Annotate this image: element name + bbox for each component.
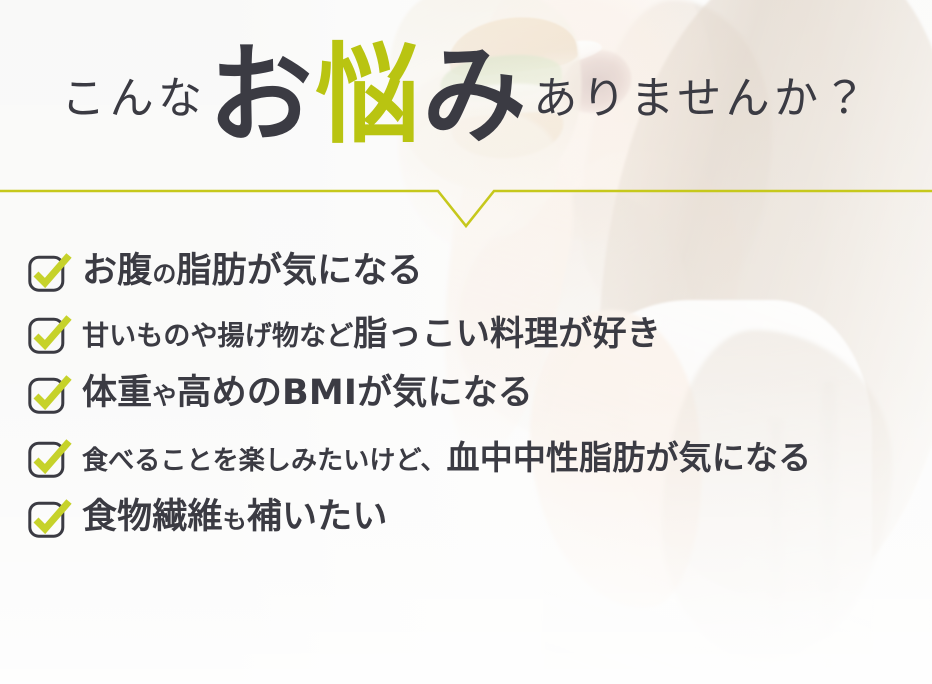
item-text-part: 脂肪が気になる xyxy=(176,251,422,291)
headline: こんな お 悩 み ありませんか？ xyxy=(0,18,932,168)
item-text-part: 食物繊維 xyxy=(82,497,223,537)
arrow-divider xyxy=(0,176,932,236)
checklist-item-belly-fat[interactable]: お腹の脂肪が気になる xyxy=(0,252,932,292)
checklist-item-weight-bmi[interactable]: 体重や高めのBMIが気になる xyxy=(0,374,932,414)
headline-kanji-nayami: 悩 xyxy=(315,41,418,149)
item-text-part: お腹 xyxy=(82,251,152,291)
headline-kanji-mi: み xyxy=(422,41,525,149)
item-text-part: 食べることを楽しみたいけど、 xyxy=(82,446,447,476)
divider-line-path xyxy=(0,191,932,226)
checkbox-checked-icon[interactable] xyxy=(28,315,72,355)
checkbox-checked-icon[interactable] xyxy=(28,253,72,293)
item-text-part: 体重 xyxy=(82,373,152,413)
item-text-part: 血中中性脂肪が気になる xyxy=(447,438,812,477)
item-text-part: 高めのBMIが気になる xyxy=(176,373,532,413)
item-text-part: や xyxy=(152,382,176,410)
headline-kanji-o: お xyxy=(208,41,311,149)
checklist: お腹の脂肪が気になる 甘いものや揚げ物など脂っこい料理が好き xyxy=(0,252,932,538)
hero-section: こんな お 悩 み ありませんか？ お腹の脂肪が気になる xyxy=(0,0,932,684)
item-text-part: も xyxy=(223,506,247,534)
checkbox-checked-icon[interactable] xyxy=(28,375,72,415)
checklist-item-dietary-fiber[interactable]: 食物繊維も補いたい xyxy=(0,498,932,538)
item-text-part: 脂っこい料理が好き xyxy=(353,314,661,354)
item-text-part: の xyxy=(152,260,176,288)
checkbox-checked-icon[interactable] xyxy=(28,439,72,479)
headline-prefix: こんな xyxy=(61,77,206,121)
item-text-part: 補いたい xyxy=(247,497,388,537)
checklist-item-blood-triglycerides[interactable]: 食べることを楽しみたいけど、血中中性脂肪が気になる xyxy=(0,438,932,478)
headline-suffix: ありませんか？ xyxy=(533,77,870,121)
item-text-part: 甘いものや揚げ物など xyxy=(82,321,353,352)
checkbox-checked-icon[interactable] xyxy=(28,499,72,539)
checklist-item-greasy-food[interactable]: 甘いものや揚げ物など脂っこい料理が好き xyxy=(0,314,932,354)
